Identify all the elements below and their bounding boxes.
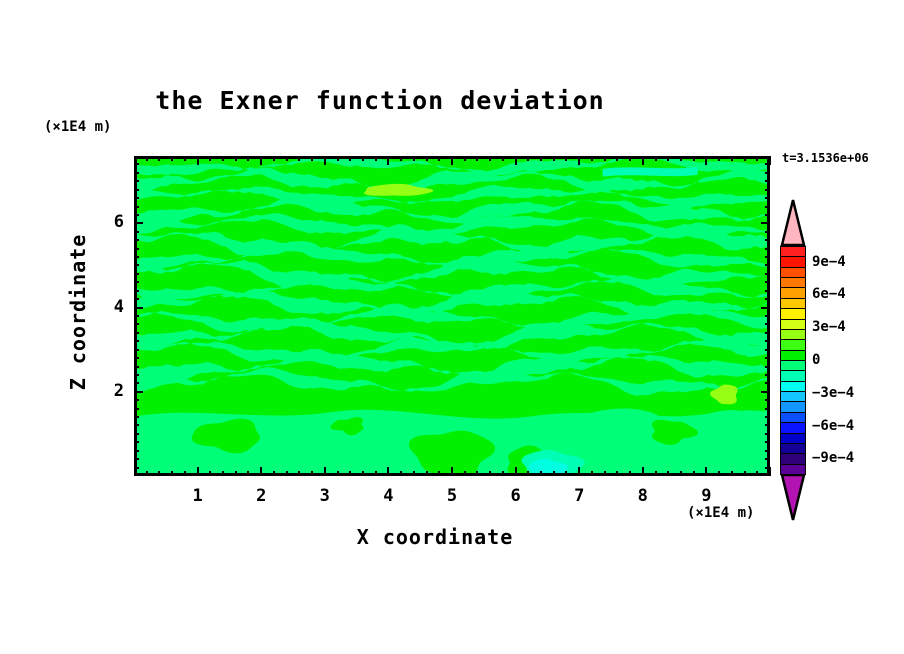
- x-axis-tick: [171, 156, 173, 161]
- colorbar-over-arrow: [780, 198, 806, 246]
- y-axis-tick: [134, 366, 139, 368]
- x-axis-tick: [731, 156, 733, 161]
- x-axis-tick: [756, 471, 758, 476]
- x-axis-tick: [222, 471, 224, 476]
- x-axis-tick: [655, 471, 657, 476]
- y-axis-tick: [765, 231, 770, 233]
- x-axis-tick: [489, 156, 491, 161]
- y-axis-tick: [765, 248, 770, 250]
- x-axis-tick: [209, 471, 211, 476]
- x-axis-tick: [298, 471, 300, 476]
- y-axis-tick: [765, 408, 770, 410]
- y-axis-tick: [134, 340, 139, 342]
- y-axis-tick: [765, 281, 770, 283]
- x-axis-tick: [197, 156, 199, 165]
- x-axis-tick: [744, 471, 746, 476]
- x-axis-tick: [591, 156, 593, 161]
- time-annotation: t=3.1536e+06: [782, 151, 869, 165]
- y-axis-tick: [134, 172, 139, 174]
- x-axis-title: X coordinate: [270, 525, 600, 549]
- y-axis-tick: [134, 197, 139, 199]
- x-axis-tick: [629, 156, 631, 161]
- y-axis-tick: [765, 424, 770, 426]
- y-axis-tick: [765, 340, 770, 342]
- y-axis-tick: [765, 172, 770, 174]
- y-axis-tick: [761, 391, 770, 393]
- x-axis-tick: [731, 471, 733, 476]
- y-axis-tick: [134, 323, 139, 325]
- y-axis-tick: [134, 357, 139, 359]
- y-axis-tick: [765, 441, 770, 443]
- y-axis-tick: [765, 399, 770, 401]
- x-axis-tick: [756, 156, 758, 161]
- y-axis-tick-label: 6: [100, 212, 124, 232]
- y-axis-tick: [134, 256, 139, 258]
- x-axis-tick: [158, 156, 160, 161]
- y-axis-tick: [134, 391, 143, 393]
- x-axis-tick-label: 8: [628, 486, 658, 506]
- y-axis-tick: [134, 264, 139, 266]
- y-axis-tick: [134, 374, 139, 376]
- y-axis-tick: [134, 273, 139, 275]
- y-axis-tick: [134, 180, 139, 182]
- x-axis-tick: [146, 471, 148, 476]
- x-axis-tick: [718, 156, 720, 161]
- x-axis-tick: [413, 156, 415, 161]
- y-axis-tick: [134, 298, 139, 300]
- x-axis-tick: [337, 156, 339, 161]
- colorbar-tick-label: 3e−4: [812, 319, 846, 335]
- x-axis-tick-label: 9: [691, 486, 721, 506]
- y-axis-tick: [765, 323, 770, 325]
- x-axis-tick: [171, 471, 173, 476]
- x-axis-tick: [527, 471, 529, 476]
- x-axis-tick: [642, 156, 644, 165]
- x-axis-tick: [387, 156, 389, 165]
- x-axis-tick-label: 6: [501, 486, 531, 506]
- x-axis-tick: [565, 156, 567, 161]
- x-axis-tick: [426, 156, 428, 161]
- x-axis-tick: [438, 156, 440, 161]
- x-axis-tick: [438, 471, 440, 476]
- x-axis-tick: [324, 156, 326, 165]
- x-axis-tick-label: 3: [310, 486, 340, 506]
- y-axis-tick: [134, 441, 139, 443]
- y-axis-tick: [765, 416, 770, 418]
- x-axis-tick: [158, 471, 160, 476]
- y-axis-tick: [765, 433, 770, 435]
- x-axis-tick: [197, 467, 199, 476]
- y-axis-tick: [134, 349, 139, 351]
- x-axis-tick-label: 2: [246, 486, 276, 506]
- x-axis-tick: [247, 471, 249, 476]
- y-axis-tick: [765, 264, 770, 266]
- x-axis-tick: [629, 471, 631, 476]
- y-axis-tick: [134, 458, 139, 460]
- y-axis-tick: [761, 307, 770, 309]
- y-axis-tick: [134, 290, 139, 292]
- y-axis-tick: [134, 248, 139, 250]
- x-axis-tick: [616, 156, 618, 161]
- y-axis-tick: [134, 206, 139, 208]
- x-axis-tick: [400, 156, 402, 161]
- colorbar-tick-label: −3e−4: [812, 385, 854, 401]
- x-axis-tick: [387, 467, 389, 476]
- colorbar-tick-label: −9e−4: [812, 450, 854, 466]
- y-axis-tick: [134, 332, 139, 334]
- x-axis-tick: [400, 471, 402, 476]
- y-axis-tick: [134, 214, 139, 216]
- x-axis-tick: [680, 156, 682, 161]
- y-axis-tick: [134, 450, 139, 452]
- y-axis-unit-label: (×1E4 m): [44, 119, 111, 135]
- x-axis-tick: [604, 156, 606, 161]
- x-axis-tick: [362, 156, 364, 161]
- y-axis-tick: [134, 424, 139, 426]
- x-axis-tick: [375, 471, 377, 476]
- x-axis-tick: [515, 156, 517, 165]
- x-axis-tick: [247, 156, 249, 161]
- x-axis-tick: [667, 156, 669, 161]
- contour-plot-area: [134, 156, 770, 476]
- colorbar-tick-label: 0: [812, 352, 820, 368]
- x-axis-tick: [260, 467, 262, 476]
- y-axis-tick: [765, 273, 770, 275]
- y-axis-tick: [134, 163, 139, 165]
- contour-field: [137, 159, 767, 473]
- y-axis-tick: [765, 298, 770, 300]
- x-axis-tick: [540, 471, 542, 476]
- x-axis-tick-label: 4: [373, 486, 403, 506]
- x-axis-tick: [286, 156, 288, 161]
- y-axis-tick: [761, 222, 770, 224]
- x-axis-tick: [553, 471, 555, 476]
- x-axis-tick: [604, 471, 606, 476]
- colorbar-tick-label: 6e−4: [812, 286, 846, 302]
- colorbar-under-arrow: [780, 474, 806, 522]
- x-axis-tick: [260, 156, 262, 165]
- y-axis-tick: [134, 408, 139, 410]
- x-axis-tick-label: 5: [437, 486, 467, 506]
- y-axis-tick: [765, 382, 770, 384]
- x-axis-tick: [235, 156, 237, 161]
- x-axis-tick-label: 1: [183, 486, 213, 506]
- y-axis-tick: [134, 433, 139, 435]
- y-axis-tick-label: 4: [100, 297, 124, 317]
- x-axis-tick: [565, 471, 567, 476]
- x-axis-tick: [184, 156, 186, 161]
- y-axis-tick: [765, 366, 770, 368]
- x-axis-tick: [540, 156, 542, 161]
- y-axis-tick: [765, 450, 770, 452]
- y-axis-tick: [765, 467, 770, 469]
- y-axis-tick: [134, 281, 139, 283]
- x-axis-tick: [476, 156, 478, 161]
- x-axis-tick: [705, 467, 707, 476]
- x-axis-tick: [337, 471, 339, 476]
- y-axis-title: Z coordinate: [66, 212, 90, 412]
- x-axis-tick: [578, 467, 580, 476]
- x-axis-tick: [693, 471, 695, 476]
- y-axis-tick: [765, 349, 770, 351]
- y-axis-tick: [765, 189, 770, 191]
- y-axis-tick: [134, 307, 143, 309]
- x-axis-tick: [515, 467, 517, 476]
- y-axis-tick: [765, 239, 770, 241]
- x-axis-tick: [426, 471, 428, 476]
- x-axis-tick: [311, 471, 313, 476]
- x-axis-tick: [527, 156, 529, 161]
- y-axis-tick: [765, 374, 770, 376]
- y-axis-tick: [765, 458, 770, 460]
- x-axis-tick: [693, 156, 695, 161]
- x-axis-tick: [146, 156, 148, 161]
- y-axis-tick: [134, 416, 139, 418]
- x-axis-tick: [553, 156, 555, 161]
- y-axis-tick: [765, 332, 770, 334]
- x-axis-tick: [349, 471, 351, 476]
- x-axis-tick: [184, 471, 186, 476]
- y-axis-tick: [765, 315, 770, 317]
- x-axis-tick: [451, 156, 453, 165]
- x-axis-tick: [413, 471, 415, 476]
- x-axis-tick: [680, 471, 682, 476]
- y-axis-tick: [134, 315, 139, 317]
- x-axis-unit-label: (×1E4 m): [687, 505, 754, 521]
- colorbar: 9e−46e−43e−40−3e−4−6e−4−9e−4: [780, 246, 806, 474]
- x-axis-tick: [591, 471, 593, 476]
- y-axis-tick: [765, 206, 770, 208]
- y-axis-tick: [134, 239, 139, 241]
- x-axis-tick: [718, 471, 720, 476]
- y-axis-tick: [765, 180, 770, 182]
- x-axis-tick: [324, 467, 326, 476]
- x-axis-tick: [667, 471, 669, 476]
- x-axis-tick: [273, 156, 275, 161]
- y-axis-tick: [134, 222, 143, 224]
- y-axis-tick: [134, 467, 139, 469]
- y-axis-tick: [134, 231, 139, 233]
- x-axis-tick: [502, 156, 504, 161]
- y-axis-tick: [134, 399, 139, 401]
- y-axis-tick: [765, 214, 770, 216]
- x-axis-tick: [235, 471, 237, 476]
- y-axis-tick: [765, 256, 770, 258]
- colorbar-segment: [780, 464, 806, 476]
- y-axis-tick-label: 2: [100, 381, 124, 401]
- x-axis-tick: [476, 471, 478, 476]
- x-axis-tick: [489, 471, 491, 476]
- x-axis-tick: [642, 467, 644, 476]
- x-axis-tick: [578, 156, 580, 165]
- x-axis-tick: [286, 471, 288, 476]
- x-axis-tick: [209, 156, 211, 161]
- y-axis-tick: [765, 290, 770, 292]
- x-axis-tick: [451, 467, 453, 476]
- x-axis-tick: [616, 471, 618, 476]
- x-axis-tick: [705, 156, 707, 165]
- x-axis-tick-label: 7: [564, 486, 594, 506]
- x-axis-tick: [362, 471, 364, 476]
- y-axis-tick: [134, 189, 139, 191]
- colorbar-tick-label: 9e−4: [812, 254, 846, 270]
- x-axis-tick: [655, 156, 657, 161]
- y-axis-tick: [765, 197, 770, 199]
- y-axis-tick: [765, 163, 770, 165]
- x-axis-tick: [464, 471, 466, 476]
- colorbar-tick-label: −6e−4: [812, 418, 854, 434]
- x-axis-tick: [273, 471, 275, 476]
- x-axis-tick: [222, 156, 224, 161]
- y-axis-tick: [765, 357, 770, 359]
- y-axis-tick: [134, 382, 139, 384]
- x-axis-tick: [375, 156, 377, 161]
- x-axis-tick: [298, 156, 300, 161]
- x-axis-tick: [464, 156, 466, 161]
- page-title: the Exner function deviation: [0, 86, 760, 115]
- x-axis-tick: [311, 156, 313, 161]
- x-axis-tick: [349, 156, 351, 161]
- x-axis-tick: [744, 156, 746, 161]
- x-axis-tick: [502, 471, 504, 476]
